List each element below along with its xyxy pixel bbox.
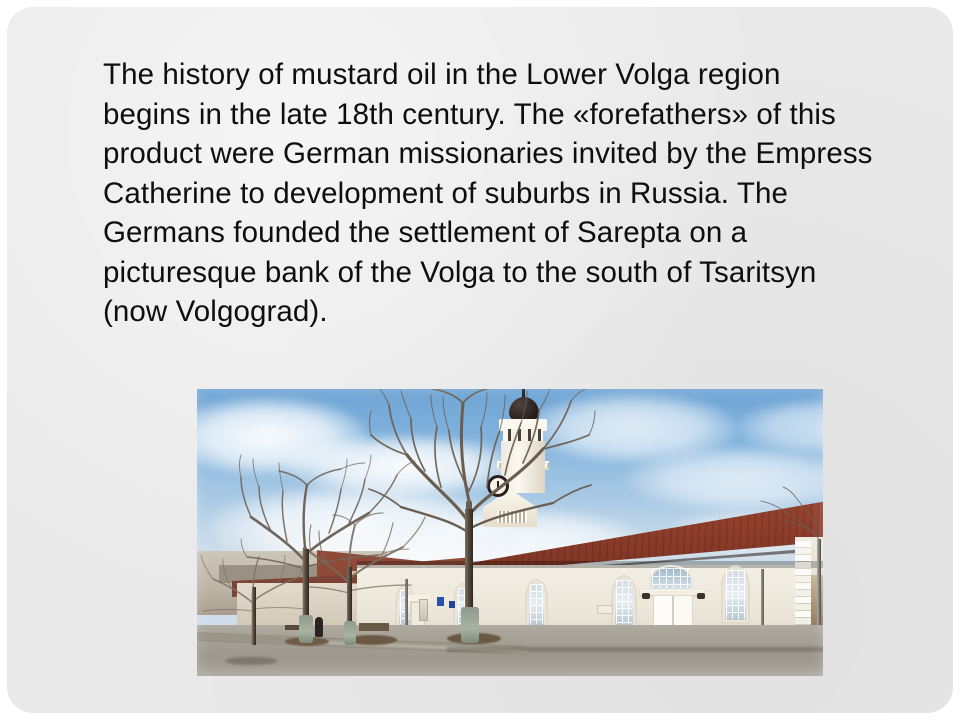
blue-sign xyxy=(437,597,444,606)
tree-trunk-base xyxy=(344,621,356,645)
arched-window xyxy=(613,577,635,627)
dormer-balustrade xyxy=(497,511,527,523)
eave-shadow xyxy=(357,561,823,568)
entrance-fanlight xyxy=(649,565,693,591)
arched-window xyxy=(527,581,546,627)
tree-trunk xyxy=(252,587,256,645)
notice-board xyxy=(419,599,428,621)
slide-photo xyxy=(197,389,823,676)
wall-lamp-icon xyxy=(697,593,705,599)
ground-shadow xyxy=(447,647,823,652)
person-figure xyxy=(315,617,323,637)
tree-trunk-base xyxy=(299,615,313,643)
slide-canvas: The history of mustard oil in the Lower … xyxy=(7,7,953,713)
bench xyxy=(359,623,389,631)
tree-trunk-base xyxy=(461,607,479,643)
slide-body-text: The history of mustard oil in the Lower … xyxy=(103,55,873,332)
blue-sign xyxy=(449,601,455,608)
wall-plaque xyxy=(597,605,613,614)
slide-frame: The history of mustard oil in the Lower … xyxy=(0,0,960,720)
puddle xyxy=(225,657,277,665)
wall-lamp-icon xyxy=(642,593,650,599)
arched-window xyxy=(723,567,748,622)
clock-icon xyxy=(487,475,509,497)
